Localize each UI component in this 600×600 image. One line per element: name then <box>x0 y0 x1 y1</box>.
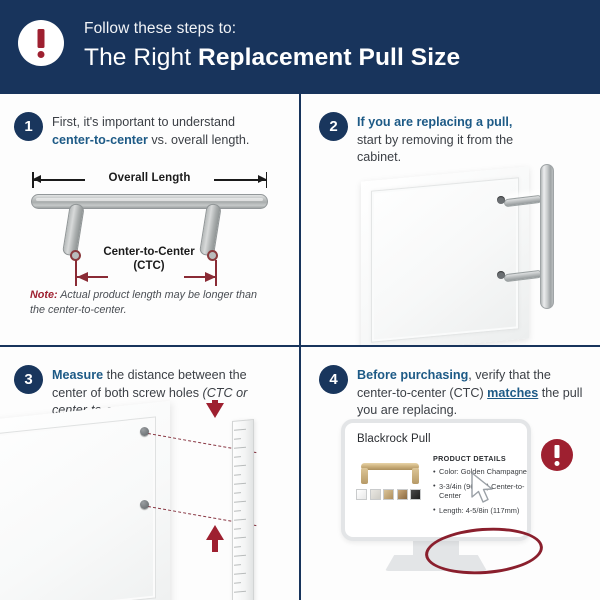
product-title: Blackrock Pull <box>357 433 431 445</box>
arrow-down-icon <box>206 403 224 418</box>
product-pull-image <box>357 457 423 483</box>
step2-tail: start by removing it from the cabinet. <box>357 133 513 165</box>
ruler-tick <box>234 573 246 575</box>
step-text-4: Before purchasing, verify that the cente… <box>357 367 585 420</box>
exclamation-icon <box>541 439 573 471</box>
header-banner: Follow these steps to: The Right Replace… <box>0 0 600 94</box>
screw-hole-bottom <box>140 500 149 509</box>
step-text-2: If you are replacing a pull, start by re… <box>357 114 517 167</box>
ctc-label-line1: Center-to-Center <box>103 246 194 258</box>
step-number-1: 1 <box>14 112 43 141</box>
swatch-2[interactable] <box>370 489 381 500</box>
pull-bar-graphic <box>31 194 268 209</box>
ruler-tick <box>234 429 246 431</box>
step-panel-2: 2 If you are replacing a pull, start by … <box>301 94 600 345</box>
finish-swatches <box>356 489 421 500</box>
exclamation-icon <box>18 20 64 66</box>
step-panel-1: 1 First, it's important to understand ce… <box>0 94 299 345</box>
title-light: The Right <box>84 44 198 71</box>
swatch-4[interactable] <box>397 489 408 500</box>
step1-lead: First, it's important to understand <box>52 115 235 129</box>
overall-length-label: Overall Length <box>22 172 277 184</box>
ctc-label: Center-to-Center (CTC) <box>64 245 234 273</box>
mouse-cursor-icon <box>471 472 497 509</box>
cabinet-door-graphic <box>361 166 529 345</box>
step-text-1: First, it's important to understand cent… <box>52 114 274 149</box>
installed-pull-graphic <box>540 164 554 309</box>
step2-bold: If you are replacing a pull, <box>357 115 512 129</box>
ruler-tick <box>234 474 241 476</box>
ruler-tick <box>234 564 241 566</box>
step-number-2: 2 <box>319 112 348 141</box>
ruler-tick <box>234 582 241 584</box>
step3-bold: Measure <box>52 368 103 382</box>
page-title: The Right Replacement Pull Size <box>84 43 584 73</box>
ruler-tick <box>234 465 246 467</box>
ruler-tick <box>234 456 241 458</box>
ruler-tick <box>234 591 246 593</box>
ruler-graphic <box>232 419 254 600</box>
product-page-screen: Blackrock Pull PRODUCT DETAILS Color: Go… <box>341 419 531 541</box>
ruler-tick <box>234 537 246 539</box>
title-bold: Replacement Pull Size <box>198 44 460 71</box>
ruler-tick <box>234 483 246 485</box>
header-text: Follow these steps to: The Right Replace… <box>84 20 584 73</box>
swatch-5[interactable] <box>410 489 421 500</box>
step-number-3: 3 <box>14 365 43 394</box>
screw-hole-top <box>497 196 505 204</box>
ruler-tick <box>234 555 246 557</box>
screw-hole-bottom <box>497 271 505 279</box>
step-number-4: 4 <box>319 365 348 394</box>
pull-measurement-diagram: Overall Length Center-to-Center (CTC) <box>22 172 277 297</box>
swatch-3[interactable] <box>383 489 394 500</box>
ruler-tick <box>234 528 241 530</box>
step1-bold: center-to-center <box>52 133 148 147</box>
ruler-tick <box>234 492 241 494</box>
note-body: Actual product length may be longer than… <box>30 289 257 316</box>
screw-hole-top <box>140 427 149 436</box>
ctc-label-line2: (CTC) <box>133 260 164 272</box>
step1-tail: vs. overall length. <box>148 133 250 147</box>
ruler-tick <box>234 519 246 521</box>
note-label: Note: <box>30 289 58 301</box>
ruler-tick <box>234 447 246 449</box>
diagram-note: Note: Actual product length may be longe… <box>30 288 270 318</box>
ruler-tick <box>234 510 241 512</box>
step-panel-4: 4 Before purchasing, verify that the cen… <box>301 347 600 600</box>
product-details-heading: PRODUCT DETAILS <box>433 454 506 463</box>
step4-bold: Before purchasing <box>357 368 468 382</box>
step-panel-3: 3 Measure the distance between the cente… <box>0 347 299 600</box>
ruler-tick <box>234 546 241 548</box>
header-eyebrow: Follow these steps to: <box>84 20 584 38</box>
arrow-up-icon <box>206 525 224 540</box>
ruler-tick <box>234 501 246 503</box>
infographic-root: Follow these steps to: The Right Replace… <box>0 0 600 600</box>
grid-divider-horizontal <box>0 345 600 347</box>
grid-divider-vertical <box>299 94 301 600</box>
swatch-1[interactable] <box>356 489 367 500</box>
ruler-tick <box>234 438 241 440</box>
step4-underline: matches <box>487 386 538 400</box>
